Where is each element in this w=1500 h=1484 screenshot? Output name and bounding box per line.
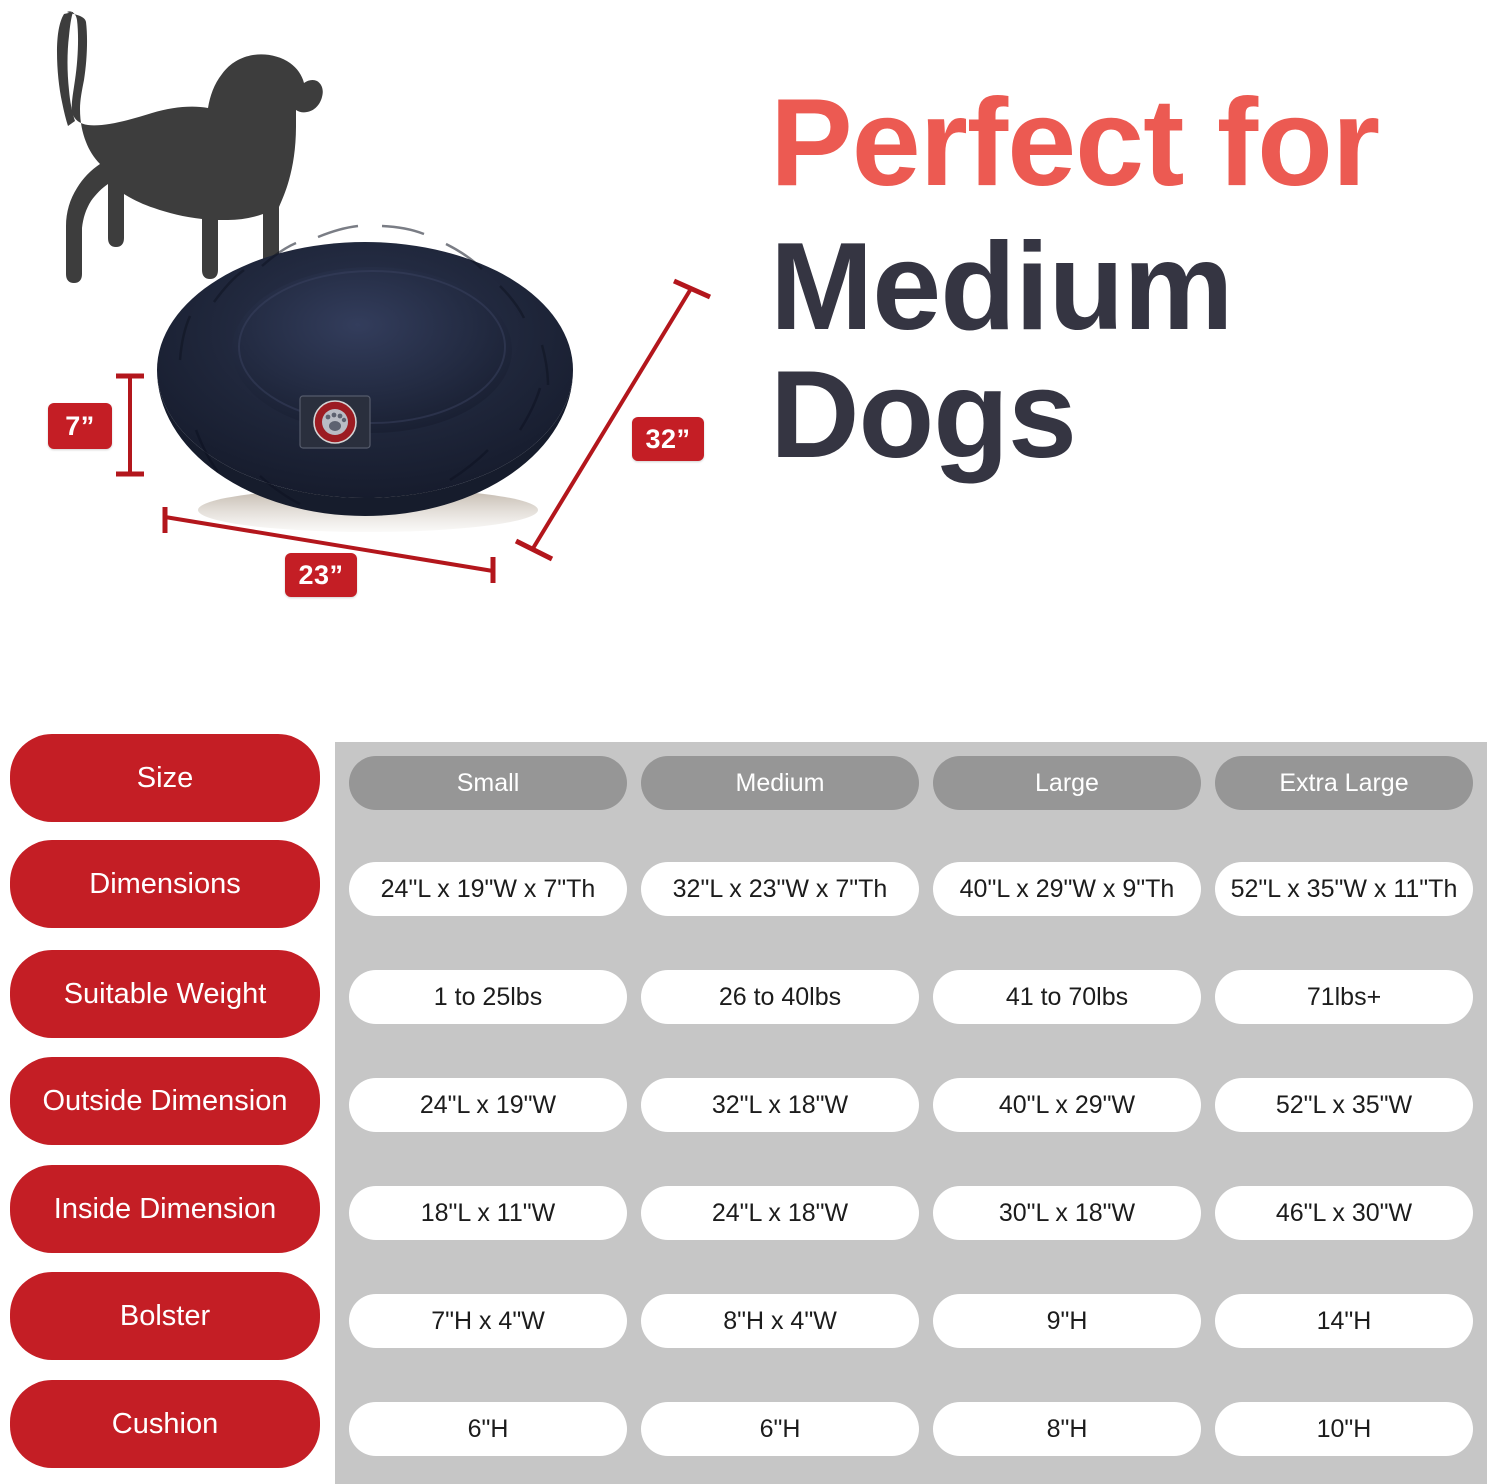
cell-cushion-large: 8"H xyxy=(933,1402,1201,1456)
cell-bolster-large: 9"H xyxy=(933,1294,1201,1348)
row-label-suitable-weight: Suitable Weight xyxy=(10,950,320,1038)
cell-weight-extra-large: 71lbs+ xyxy=(1215,970,1473,1024)
cell-inside-small: 18"L x 11"W xyxy=(349,1186,627,1240)
cell-bolster-small: 7"H x 4"W xyxy=(349,1294,627,1348)
callout-width: 23” xyxy=(285,553,357,597)
headline-line-3: Dogs xyxy=(770,357,1490,475)
cell-bolster-medium: 8"H x 4"W xyxy=(641,1294,919,1348)
cell-cushion-medium: 6"H xyxy=(641,1402,919,1456)
column-header-small: Small xyxy=(349,756,627,810)
cell-cushion-extra-large: 10"H xyxy=(1215,1402,1473,1456)
headline-line-1: Perfect for xyxy=(770,85,1490,203)
callout-height: 7” xyxy=(48,403,112,449)
cell-cushion-small: 6"H xyxy=(349,1402,627,1456)
headline-block: Perfect for Medium Dogs xyxy=(770,85,1490,474)
cell-inside-large: 30"L x 18"W xyxy=(933,1186,1201,1240)
specification-table: Size Dimensions Suitable Weight Outside … xyxy=(0,722,1500,1484)
callout-depth: 32” xyxy=(632,417,704,461)
column-header-large: Large xyxy=(933,756,1201,810)
column-header-extra-large: Extra Large xyxy=(1215,756,1473,810)
cell-outside-medium: 32"L x 18"W xyxy=(641,1078,919,1132)
cell-dimensions-medium: 32"L x 23"W x 7"Th xyxy=(641,862,919,916)
cell-dimensions-large: 40"L x 29"W x 9"Th xyxy=(933,862,1201,916)
cell-weight-large: 41 to 70lbs xyxy=(933,970,1201,1024)
row-label-dimensions: Dimensions xyxy=(10,840,320,928)
row-label-outside-dimension: Outside Dimension xyxy=(10,1057,320,1145)
row-label-bolster: Bolster xyxy=(10,1272,320,1360)
row-label-column: Size Dimensions Suitable Weight Outside … xyxy=(10,722,320,1484)
row-label-size: Size xyxy=(10,734,320,822)
brand-tag xyxy=(300,396,370,448)
cell-dimensions-extra-large: 52"L x 35"W x 11"Th xyxy=(1215,862,1473,916)
height-dimension-line xyxy=(110,370,150,480)
cell-weight-small: 1 to 25lbs xyxy=(349,970,627,1024)
cell-dimensions-small: 24"L x 19"W x 7"Th xyxy=(349,862,627,916)
data-panel: Small Medium Large Extra Large 24"L x 19… xyxy=(335,742,1487,1484)
cell-weight-medium: 26 to 40lbs xyxy=(641,970,919,1024)
cell-inside-medium: 24"L x 18"W xyxy=(641,1186,919,1240)
cell-outside-large: 40"L x 29"W xyxy=(933,1078,1201,1132)
row-label-cushion: Cushion xyxy=(10,1380,320,1468)
cell-inside-extra-large: 46"L x 30"W xyxy=(1215,1186,1473,1240)
headline-line-2: Medium xyxy=(770,229,1490,347)
cell-bolster-extra-large: 14"H xyxy=(1215,1294,1473,1348)
row-label-inside-dimension: Inside Dimension xyxy=(10,1165,320,1253)
column-header-medium: Medium xyxy=(641,756,919,810)
cell-outside-small: 24"L x 19"W xyxy=(349,1078,627,1132)
hero-section: 7” 23” 32” Perfect for Medium Dogs xyxy=(0,0,1500,700)
cell-outside-extra-large: 52"L x 35"W xyxy=(1215,1078,1473,1132)
